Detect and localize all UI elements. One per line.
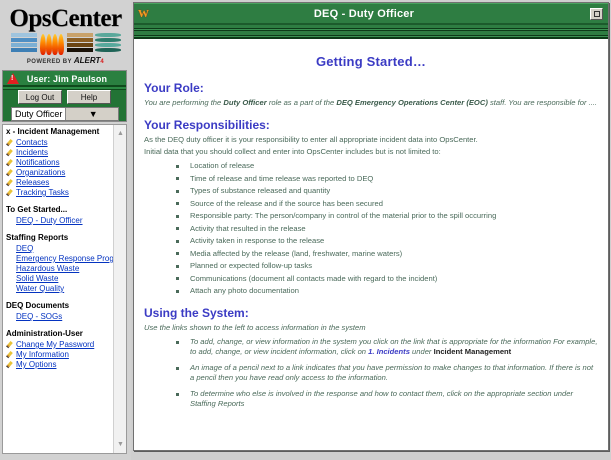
sidebar-item-my-information[interactable]: My Information [6,350,114,360]
left-sidebar: OpsCenter POWERED BY ALERT4 User: Jim Pa… [0,0,131,460]
using-system-heading: Using the System: [144,306,598,320]
sidebar-item-label[interactable]: Notifications [16,158,60,168]
sidebar-item-hazardous-waste[interactable]: Hazardous Waste [6,264,114,274]
user-name-label: User: Jim Paulson [20,74,126,84]
list-item: Activity taken in response to the releas… [176,236,598,246]
sidebar-scrollbar[interactable]: ▲ ▼ [113,125,126,453]
window-title: DEQ - Duty Officer [154,8,590,20]
role-select[interactable]: Duty Officer ▼ [11,107,119,121]
pencil-icon [6,341,15,350]
sidebar-item-tracking-tasks[interactable]: Tracking Tasks [6,188,114,198]
list-item: Time of release and time release was rep… [176,174,598,184]
powered-by-alert: POWERED BY ALERT4 [0,56,131,65]
sidebar-item-deq[interactable]: DEQ [6,244,114,254]
sidebar-item-label[interactable]: Incidents [16,148,48,158]
list-item: An image of a pencil next to a link indi… [176,363,598,383]
scroll-down-icon[interactable]: ▼ [114,438,127,451]
role-text-c: role as a part of the [267,98,337,107]
pencil-icon [6,149,15,158]
sidebar-item-label[interactable]: Emergency Response Program [16,254,127,264]
sidebar-nav-list: x - Incident ManagementContactsIncidents… [3,125,114,453]
sidebar-item-water-quality[interactable]: Water Quality [6,284,114,294]
sidebar-item-label[interactable]: Hazardous Waste [16,264,79,274]
log-out-button[interactable]: Log Out [18,90,62,104]
restore-window-icon[interactable] [590,8,603,20]
pencil-icon [6,351,15,360]
sidebar-section-heading: Staffing Reports [6,233,114,243]
role-text-e: staff. You are responsible for .... [488,98,597,107]
w-app-icon: W [138,9,154,20]
responsibilities-list: Location of releaseTime of release and t… [144,161,598,296]
sidebar-item-label[interactable]: DEQ - SOGs [16,312,62,322]
list-item: To determine who else is involved in the… [176,389,598,409]
list-item: To add, change, or view information in t… [176,337,598,357]
sidebar-item-label[interactable]: Releases [16,178,49,188]
user-buttons: Log Out Help [3,90,126,104]
sidebar-nav-panel: x - Incident ManagementContactsIncidents… [2,124,127,454]
scroll-up-icon[interactable]: ▲ [114,127,127,140]
alert-brand-text: ALERT [74,56,101,65]
pencil-icon [6,189,15,198]
main-window: W DEQ - Duty Officer Getting Started… Yo… [133,2,609,451]
list-item: Source of the release and if the source … [176,199,598,209]
sidebar-item-label[interactable]: Contacts [16,138,48,148]
sidebar-item-organizations[interactable]: Organizations [6,168,114,178]
incidents-link-reference[interactable]: 1. Incidents [368,347,410,356]
sidebar-item-label[interactable]: DEQ - Duty Officer [16,216,83,226]
sidebar-item-deq-duty-officer[interactable]: DEQ - Duty Officer [6,216,114,226]
sidebar-section-heading: To Get Started... [6,205,114,215]
list-item: Location of release [176,161,598,171]
list-item: Planned or expected follow-up tasks [176,261,598,271]
list-item: Activity that resulted in the release [176,224,598,234]
logo-graphic [0,33,131,55]
sidebar-item-change-my-password[interactable]: Change My Password [6,340,114,350]
help-button[interactable]: Help [67,90,111,104]
sidebar-item-label[interactable]: Tracking Tasks [16,188,69,198]
pencil-icon [6,361,15,370]
window-title-bar: W DEQ - Duty Officer [134,3,608,25]
logo-air-bars-icon [95,33,121,55]
page-content: Getting Started… Your Role: You are perf… [134,40,608,450]
sidebar-section-heading: DEQ Documents [6,301,114,311]
sidebar-item-incidents[interactable]: Incidents [6,148,114,158]
chevron-down-icon[interactable]: ▼ [65,108,119,120]
role-text-a: You are performing the [144,98,223,107]
role-select-value: Duty Officer [12,109,65,119]
incident-management-reference: Incident Management [434,347,512,356]
sidebar-item-label[interactable]: Solid Waste [16,274,58,284]
role-text-eoc: DEQ Emergency Operations Center (EOC) [336,98,488,107]
sidebar-item-deq-sogs[interactable]: DEQ - SOGs [6,312,114,322]
responsibilities-line2: Initial data that you should collect and… [144,147,598,157]
responsibilities-heading: Your Responsibilities: [144,118,598,132]
sidebar-item-notifications[interactable]: Notifications [6,158,114,168]
app-root: OpsCenter POWERED BY ALERT4 User: Jim Pa… [0,0,611,460]
logo-water-bars-icon [11,33,37,55]
pencil-icon [6,169,15,178]
sidebar-item-emergency-response-program[interactable]: Emergency Response Program [6,254,114,264]
role-text-role: Duty Officer [223,98,266,107]
sidebar-item-contacts[interactable]: Contacts [6,138,114,148]
page-title: Getting Started… [144,54,598,69]
user-panel: User: Jim Paulson Log Out Help Duty Offi… [2,70,127,122]
sidebar-item-label[interactable]: My Information [16,350,69,360]
list-item: Media affected by the release (land, fre… [176,249,598,259]
sidebar-item-releases[interactable]: Releases [6,178,114,188]
pencil-icon [6,139,15,148]
list-item: Types of substance released and quantity [176,186,598,196]
your-role-text: You are performing the Duty Officer role… [144,98,598,108]
using-system-intro: Use the links shown to the left to acces… [144,323,598,333]
using-system-list: To add, change, or view information in t… [144,337,598,409]
your-role-heading: Your Role: [144,81,598,95]
using-item1-b: under [410,347,434,356]
sidebar-item-my-options[interactable]: My Options [6,360,114,370]
responsibilities-line1: As the DEQ duty officer it is your respo… [144,135,598,145]
logo-earth-bars-icon [67,33,93,55]
list-item: Attach any photo documentation [176,286,598,296]
pencil-icon [6,159,15,168]
logo-fire-icon [39,33,65,55]
user-row: User: Jim Paulson [3,71,126,86]
pencil-icon [6,179,15,188]
alert-brand-mark: 4 [100,59,104,65]
sidebar-section-heading: x - Incident Management [6,127,114,137]
sidebar-item-label[interactable]: My Options [16,360,56,370]
powered-by-text: POWERED BY [27,59,72,65]
sidebar-item-solid-waste[interactable]: Solid Waste [6,274,114,284]
sidebar-section-heading: Administration-User [6,329,114,339]
opscenter-logo: OpsCenter POWERED BY ALERT4 [0,6,131,68]
alert-triangle-icon [6,72,20,85]
sidebar-item-label[interactable]: Organizations [16,168,65,178]
list-item: Responsible party: The person/company in… [176,211,598,221]
sidebar-item-label[interactable]: Change My Password [16,340,94,350]
sidebar-item-label[interactable]: Water Quality [16,284,64,294]
logo-wordmark: OpsCenter [0,6,131,32]
list-item: Communications (document all contacts ma… [176,274,598,284]
sidebar-item-label[interactable]: DEQ [16,244,33,254]
window-stripe-band [134,25,608,39]
